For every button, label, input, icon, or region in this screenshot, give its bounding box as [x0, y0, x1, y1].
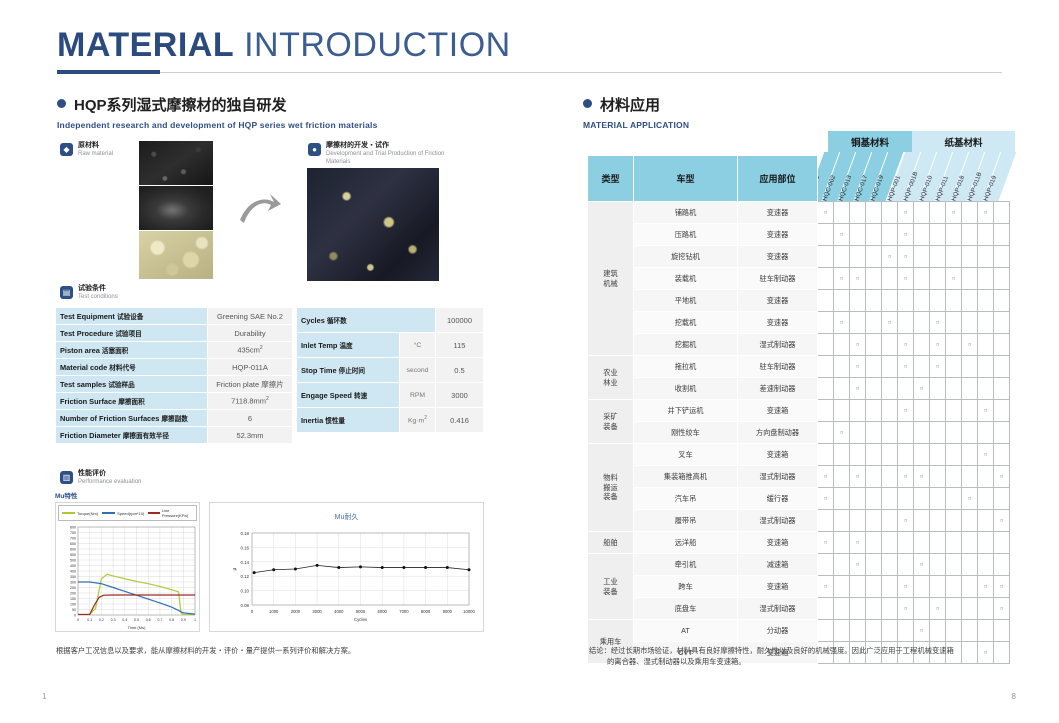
application-mark-cell: [914, 224, 930, 246]
svg-text:0.2: 0.2: [99, 618, 104, 622]
table-row: 采矿装备井下铲运机变速箱○○: [588, 400, 1010, 422]
svg-text:50: 50: [72, 608, 76, 612]
application-mark-cell: [898, 290, 914, 312]
application-mark-cell: [962, 532, 978, 554]
application-mark-cell: [818, 444, 834, 466]
spec-row: Test Equipment 试验设备Greening SAE No.2: [56, 308, 293, 325]
badge-raw-en: Raw material: [78, 151, 113, 159]
spec-row: Number of Friction Surfaces 摩擦副数6: [56, 410, 293, 427]
group-label: 采矿装备: [588, 400, 634, 444]
col-header-type: 类型: [588, 156, 634, 202]
material-application-table: 类型 车型 应用部位 建筑机械铺路机变速器○○○○压路机变速器○○旋挖钻机变速器…: [587, 155, 1010, 664]
arrow-right-icon: [238, 192, 282, 226]
svg-text:250: 250: [70, 586, 76, 590]
application-mark-cell: [818, 400, 834, 422]
application-mark-cell: [882, 488, 898, 510]
application-mark-cell: [930, 246, 946, 268]
application-mark-cell: [994, 334, 1010, 356]
svg-text:5000: 5000: [356, 609, 366, 614]
part-cell: 减速箱: [738, 554, 818, 576]
title-divider-accent: [57, 70, 160, 74]
mu-durability-chart: Mu耐久0.080.100.120.140.160.18010002000300…: [209, 502, 484, 632]
application-mark-cell: [882, 290, 898, 312]
spec-row: Inlet Temp 温度°C115: [297, 333, 484, 358]
application-mark-cell: ○: [898, 510, 914, 532]
spec-row: Friction Diameter 摩擦面有效半径52.3mm: [56, 427, 293, 444]
application-mark-cell: [850, 510, 866, 532]
application-mark-cell: ○: [818, 576, 834, 598]
photo-friction-material: [307, 168, 439, 281]
test-conditions-table-left: Test Equipment 试验设备Greening SAE No.2Test…: [55, 307, 293, 444]
application-mark-cell: [962, 620, 978, 642]
spec-label: Engage Speed 转速: [297, 383, 400, 408]
application-mark-cell: ○: [850, 334, 866, 356]
table-row: 旋挖钻机变速器○○: [588, 246, 1010, 268]
application-mark-cell: [818, 246, 834, 268]
application-mark-cell: [946, 444, 962, 466]
application-mark-cell: [994, 356, 1010, 378]
application-mark-cell: [994, 620, 1010, 642]
part-cell: 驻车制动器: [738, 268, 818, 290]
application-mark-cell: [962, 268, 978, 290]
part-cell: 湿式制动器: [738, 466, 818, 488]
badge-development: ● 摩擦材的开发・试作 Development and Trial Produc…: [308, 142, 448, 166]
svg-text:600: 600: [70, 548, 76, 552]
application-mark-cell: [962, 422, 978, 444]
doc-icon: ▤: [60, 286, 73, 299]
note-left: 根据客户工况信息以及要求，能从摩擦材料的开发・评价・量产提供一系列评价和解决方案…: [56, 645, 486, 656]
application-mark-cell: [882, 356, 898, 378]
spec-label: Cycles 循环数: [297, 308, 436, 333]
part-cell: 缓行器: [738, 488, 818, 510]
part-cell: 变速器: [738, 224, 818, 246]
application-mark-cell: [866, 268, 882, 290]
application-mark-cell: ○: [850, 268, 866, 290]
application-mark-cell: ○: [898, 598, 914, 620]
application-mark-cell: ○: [962, 488, 978, 510]
material-header-spacer: [818, 156, 1010, 202]
application-mark-cell: [866, 290, 882, 312]
spec-value: HQP-011A: [207, 359, 292, 376]
application-mark-cell: [818, 422, 834, 444]
application-mark-cell: [978, 422, 994, 444]
part-cell: 方向盘制动器: [738, 422, 818, 444]
application-mark-cell: [962, 444, 978, 466]
application-mark-cell: [994, 488, 1010, 510]
application-mark-cell: ○: [882, 312, 898, 334]
svg-text:400: 400: [70, 570, 76, 574]
vehicle-cell: 井下铲运机: [634, 400, 738, 422]
application-mark-cell: [882, 466, 898, 488]
spec-label: Inertia 惯性量: [297, 408, 400, 433]
svg-text:8000: 8000: [421, 609, 431, 614]
application-mark-cell: ○: [818, 466, 834, 488]
application-mark-cell: [930, 202, 946, 224]
application-mark-cell: [898, 532, 914, 554]
svg-text:6000: 6000: [378, 609, 388, 614]
application-mark-cell: [866, 334, 882, 356]
svg-text:3000: 3000: [312, 609, 322, 614]
application-mark-cell: ○: [994, 576, 1010, 598]
badge-dev-en: Development and Trial Production of Fric…: [326, 151, 448, 167]
application-mark-cell: [882, 268, 898, 290]
application-mark-cell: ○: [834, 312, 850, 334]
application-mark-cell: ○: [898, 356, 914, 378]
application-mark-cell: [850, 312, 866, 334]
application-mark-cell: [882, 532, 898, 554]
svg-text:0: 0: [251, 609, 254, 614]
application-mark-cell: [866, 224, 882, 246]
application-mark-cell: [818, 224, 834, 246]
col-header-vehicle: 车型: [634, 156, 738, 202]
spec-value: 115: [436, 333, 484, 358]
col-header-part: 应用部位: [738, 156, 818, 202]
application-mark-cell: [834, 444, 850, 466]
application-mark-cell: [946, 378, 962, 400]
application-mark-cell: [914, 400, 930, 422]
table-row: 履带吊湿式制动器○○: [588, 510, 1010, 532]
application-mark-cell: [994, 444, 1010, 466]
svg-text:200: 200: [70, 592, 76, 596]
application-mark-cell: ○: [834, 224, 850, 246]
application-mark-cell: [866, 422, 882, 444]
chart-icon: ▥: [60, 471, 73, 484]
slide-page: MATERIAL INTRODUCTION HQP系列湿式摩擦材的独自研发 In…: [0, 0, 1059, 723]
application-mark-cell: [818, 356, 834, 378]
badge-test-en: Test conditions: [78, 294, 118, 302]
svg-text:Mu耐久: Mu耐久: [335, 512, 359, 521]
spec-label: Friction Diameter 摩擦面有效半径: [56, 427, 208, 444]
table-row: 平地机变速器: [588, 290, 1010, 312]
application-mark-cell: [882, 444, 898, 466]
application-mark-cell: [850, 202, 866, 224]
application-mark-cell: [834, 378, 850, 400]
svg-text:700: 700: [70, 537, 76, 541]
application-mark-cell: ○: [946, 268, 962, 290]
badge-raw-cn: 原材料: [78, 142, 113, 151]
application-mark-cell: [882, 510, 898, 532]
svg-text:μ: μ: [232, 567, 238, 570]
application-mark-cell: [930, 224, 946, 246]
table-row: 建筑机械铺路机变速器○○○○: [588, 202, 1010, 224]
application-mark-cell: [834, 576, 850, 598]
application-mark-cell: [898, 378, 914, 400]
application-mark-cell: [818, 312, 834, 334]
application-mark-cell: ○: [914, 554, 930, 576]
application-mark-cell: [850, 488, 866, 510]
application-mark-cell: [882, 620, 898, 642]
table-row: 刚性绞车方向盘制动器○: [588, 422, 1010, 444]
spec-value: 52.3mm: [207, 427, 292, 444]
application-mark-cell: [882, 576, 898, 598]
application-mark-cell: ○: [994, 466, 1010, 488]
application-mark-cell: ○: [850, 378, 866, 400]
application-mark-cell: [834, 466, 850, 488]
application-mark-cell: [930, 510, 946, 532]
vehicle-cell: 履带吊: [634, 510, 738, 532]
application-mark-cell: [962, 466, 978, 488]
spec-label: Test Procedure 试验项目: [56, 325, 208, 342]
application-mark-cell: [994, 532, 1010, 554]
application-mark-cell: [866, 554, 882, 576]
application-mark-cell: [898, 444, 914, 466]
application-mark-cell: ○: [850, 356, 866, 378]
application-mark-cell: ○: [850, 554, 866, 576]
application-mark-cell: [834, 246, 850, 268]
application-mark-cell: [978, 356, 994, 378]
spec-row: Material code 材料代号HQP-011A: [56, 359, 293, 376]
group-label: 物料搬运装备: [588, 444, 634, 532]
part-cell: 驻车制动器: [738, 356, 818, 378]
application-mark-cell: ○: [994, 598, 1010, 620]
spec-value: Durability: [207, 325, 292, 342]
application-mark-cell: [914, 598, 930, 620]
photo-raw-material-1: [139, 141, 213, 185]
photo-raw-material-3: [139, 231, 213, 279]
application-mark-cell: [962, 378, 978, 400]
application-mark-cell: [930, 466, 946, 488]
application-mark-cell: [962, 202, 978, 224]
application-mark-cell: [978, 554, 994, 576]
application-mark-cell: [930, 620, 946, 642]
application-mark-cell: [946, 576, 962, 598]
spec-value: 0.5: [436, 358, 484, 383]
band-paper-material: 纸基材料: [912, 131, 1015, 152]
application-mark-cell: [818, 290, 834, 312]
svg-text:800: 800: [70, 526, 76, 530]
application-mark-cell: ○: [914, 620, 930, 642]
application-mark-cell: [866, 488, 882, 510]
application-mark-cell: [914, 356, 930, 378]
spec-label: Piston area 活塞面积: [56, 342, 208, 359]
application-mark-cell: [834, 598, 850, 620]
vehicle-cell: 压路机: [634, 224, 738, 246]
application-mark-cell: [978, 224, 994, 246]
application-mark-cell: ○: [818, 488, 834, 510]
application-mark-cell: [850, 598, 866, 620]
application-mark-cell: [978, 290, 994, 312]
group-label: 船舶: [588, 532, 634, 554]
group-label: 建筑机械: [588, 202, 634, 356]
photo-raw-material-2: [139, 186, 213, 230]
chart-plot-area: Mu耐久0.080.100.120.140.160.18010002000300…: [210, 503, 483, 631]
spec-unit: second: [400, 358, 436, 383]
part-cell: 变速器: [738, 246, 818, 268]
application-mark-cell: [850, 400, 866, 422]
application-mark-cell: [850, 444, 866, 466]
part-cell: 变速器: [738, 290, 818, 312]
application-mark-cell: [994, 554, 1010, 576]
application-mark-cell: [962, 510, 978, 532]
svg-text:0.1: 0.1: [87, 618, 92, 622]
application-mark-cell: [882, 378, 898, 400]
application-mark-cell: [946, 224, 962, 246]
application-mark-cell: ○: [978, 444, 994, 466]
application-mark-cell: [946, 400, 962, 422]
application-mark-cell: [882, 334, 898, 356]
application-mark-cell: [994, 422, 1010, 444]
legend-item: Torque(Nm): [62, 511, 98, 516]
part-cell: 差速制动器: [738, 378, 818, 400]
application-mark-cell: [818, 620, 834, 642]
vehicle-cell: AT: [634, 620, 738, 642]
application-mark-cell: [962, 224, 978, 246]
application-mark-cell: [914, 334, 930, 356]
spec-row: Inertia 惯性量Kg·m20.416: [297, 408, 484, 433]
application-mark-cell: [834, 202, 850, 224]
vehicle-cell: 远洋船: [634, 532, 738, 554]
application-mark-cell: [818, 510, 834, 532]
spec-label: Test Equipment 试验设备: [56, 308, 208, 325]
application-mark-cell: [962, 312, 978, 334]
table-row: 挖载机变速器○○○: [588, 312, 1010, 334]
application-mark-cell: [866, 378, 882, 400]
application-mark-cell: ○: [850, 532, 866, 554]
spec-row: Piston area 活塞面积435cm2: [56, 342, 293, 359]
spec-value: Greening SAE No.2: [207, 308, 292, 325]
svg-text:0.12: 0.12: [240, 574, 249, 579]
svg-text:0.18: 0.18: [240, 531, 249, 536]
legend-item: Speed(rpm*10): [102, 511, 144, 516]
part-cell: 变速箱: [738, 576, 818, 598]
svg-text:2000: 2000: [291, 609, 301, 614]
table-row: 压路机变速器○○: [588, 224, 1010, 246]
application-mark-cell: [834, 488, 850, 510]
application-mark-cell: [962, 246, 978, 268]
application-mark-cell: [850, 576, 866, 598]
application-mark-cell: [866, 400, 882, 422]
application-mark-cell: [946, 422, 962, 444]
chart-plot-area: 0501001502002503003504004505005506006507…: [56, 523, 199, 631]
spec-row: Engage Speed 转速RPM3000: [297, 383, 484, 408]
application-mark-cell: [866, 312, 882, 334]
application-mark-cell: [946, 246, 962, 268]
application-mark-cell: ○: [978, 400, 994, 422]
application-mark-cell: [962, 576, 978, 598]
application-mark-cell: [898, 422, 914, 444]
application-mark-cell: [882, 202, 898, 224]
application-mark-cell: [914, 268, 930, 290]
svg-text:0.16: 0.16: [240, 545, 249, 550]
application-mark-cell: [930, 444, 946, 466]
application-mark-cell: [994, 312, 1010, 334]
svg-text:7000: 7000: [399, 609, 409, 614]
application-mark-cell: [994, 378, 1010, 400]
application-mark-cell: [850, 290, 866, 312]
application-mark-cell: [866, 246, 882, 268]
application-mark-cell: [930, 268, 946, 290]
page-title-bold: MATERIAL: [57, 26, 234, 64]
chart-legend: Torque(Nm)Speed(rpm*10)Line Pressure(KPa…: [58, 505, 197, 521]
note-right-line2: 的离合器、湿式制动器以及乘用车变速箱。: [589, 656, 1009, 667]
application-mark-cell: [946, 290, 962, 312]
application-mark-cell: [818, 268, 834, 290]
svg-text:300: 300: [70, 581, 76, 585]
application-mark-cell: [946, 532, 962, 554]
application-mark-cell: [946, 598, 962, 620]
spec-unit: Kg·m2: [400, 408, 436, 433]
application-mark-cell: ○: [898, 202, 914, 224]
application-mark-cell: [866, 532, 882, 554]
spec-value: 3000: [436, 383, 484, 408]
spec-value: Friction plate 摩擦片: [207, 376, 292, 393]
application-mark-cell: ○: [946, 202, 962, 224]
vehicle-cell: 挖掘机: [634, 334, 738, 356]
table-row: 乘用车AT分动器○: [588, 620, 1010, 642]
note-right-line1: 结论：经过长期市场验证，材料具有良好摩擦特性，耐久性以及良好的机械强度。因此广泛…: [589, 646, 954, 655]
application-mark-cell: [914, 576, 930, 598]
table-row: 汽车吊缓行器○○: [588, 488, 1010, 510]
vehicle-cell: 装载机: [634, 268, 738, 290]
application-mark-cell: [914, 202, 930, 224]
application-mark-cell: [978, 510, 994, 532]
spec-row: Test Procedure 试验项目Durability: [56, 325, 293, 342]
application-mark-cell: [962, 554, 978, 576]
spec-unit: RPM: [400, 383, 436, 408]
application-mark-cell: [978, 466, 994, 488]
application-mark-cell: [930, 290, 946, 312]
section-heading-left: HQP系列湿式摩擦材的独自研发 Independent research and…: [57, 94, 378, 130]
application-mark-cell: [962, 400, 978, 422]
application-mark-cell: [994, 400, 1010, 422]
application-mark-cell: ○: [930, 312, 946, 334]
test-conditions-table-right: Cycles 循环数100000Inlet Temp 温度°C115Stop T…: [296, 307, 484, 433]
bullet-dot-icon: [57, 99, 66, 108]
section-left-title-en: Independent research and development of …: [57, 120, 378, 130]
vehicle-cell: 平地机: [634, 290, 738, 312]
table-row: 挖掘机湿式制动器○○○○: [588, 334, 1010, 356]
svg-text:0.3: 0.3: [111, 618, 116, 622]
application-mark-cell: [914, 488, 930, 510]
vehicle-cell: 牵引机: [634, 554, 738, 576]
svg-text:0: 0: [77, 618, 79, 622]
table-row: 集装箱推高机湿式制动器○○○○○: [588, 466, 1010, 488]
application-mark-cell: [994, 224, 1010, 246]
group-label: 农业林业: [588, 356, 634, 400]
application-mark-cell: [930, 532, 946, 554]
application-mark-cell: [834, 400, 850, 422]
application-mark-cell: [834, 356, 850, 378]
application-mark-cell: ○: [818, 202, 834, 224]
application-mark-cell: [866, 202, 882, 224]
badge-perf-en: Performance evaluation: [78, 479, 141, 487]
vehicle-cell: 底盘车: [634, 598, 738, 620]
vehicle-cell: 拖拉机: [634, 356, 738, 378]
svg-text:0.08: 0.08: [240, 603, 249, 608]
application-mark-cell: [978, 334, 994, 356]
svg-text:4000: 4000: [334, 609, 344, 614]
application-mark-cell: [930, 576, 946, 598]
vehicle-cell: 刚性绞车: [634, 422, 738, 444]
page-title-light: INTRODUCTION: [234, 26, 511, 64]
application-mark-cell: [930, 488, 946, 510]
section-right-title-cn: 材料应用: [600, 97, 660, 114]
section-left-title-cn: HQP系列湿式摩擦材的独自研发: [74, 97, 287, 114]
application-mark-cell: [834, 620, 850, 642]
footer-left: 1: [42, 692, 46, 701]
vehicle-cell: 跨车: [634, 576, 738, 598]
svg-text:0.7: 0.7: [157, 618, 162, 622]
table-row: 工业装备牵引机减速箱○○: [588, 554, 1010, 576]
svg-text:10000: 10000: [463, 609, 475, 614]
application-mark-cell: [818, 378, 834, 400]
svg-text:0.5: 0.5: [134, 618, 139, 622]
vehicle-cell: 挖载机: [634, 312, 738, 334]
vehicle-cell: 叉车: [634, 444, 738, 466]
application-mark-cell: [930, 378, 946, 400]
application-mark-cell: ○: [898, 268, 914, 290]
application-mark-cell: ○: [914, 466, 930, 488]
